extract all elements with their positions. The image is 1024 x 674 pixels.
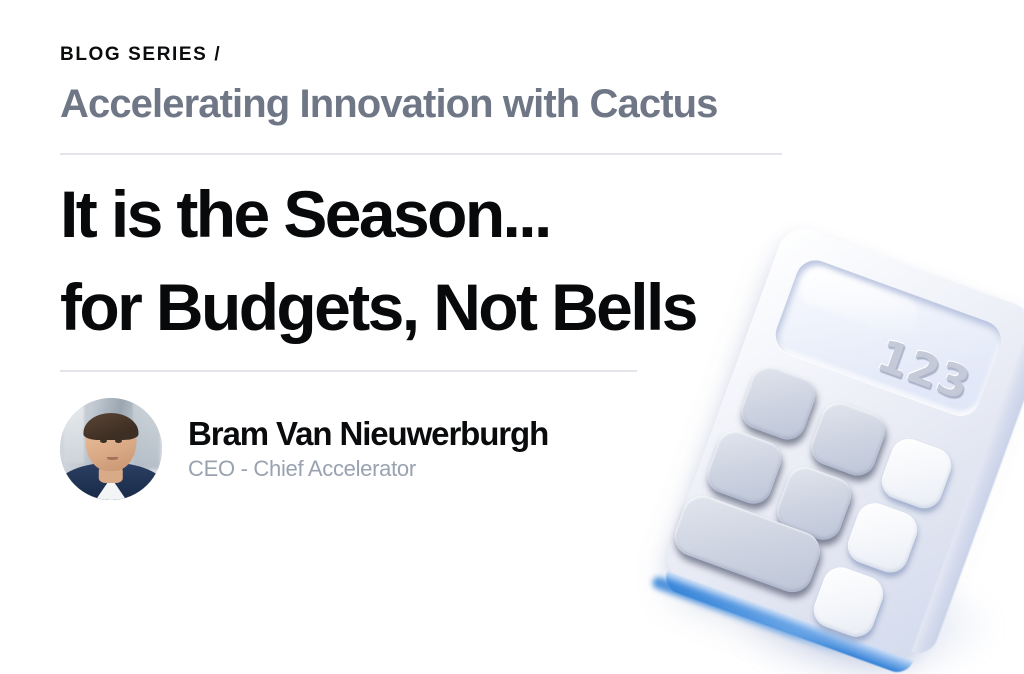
divider-bottom xyxy=(60,370,637,372)
calculator-key-r1c2 xyxy=(843,498,922,577)
calculator-right-edge xyxy=(911,326,1024,658)
calculator-ground-shadow xyxy=(730,566,1000,674)
blog-header-banner: BLOG SERIES / Accelerating Innovation wi… xyxy=(0,0,1024,674)
headline-line-1: It is the Season... xyxy=(60,181,800,247)
display-gloss xyxy=(796,263,922,340)
avatar xyxy=(60,398,162,500)
divider-top xyxy=(60,153,782,155)
author-text: Bram Van Nieuwerburgh CEO - Chief Accele… xyxy=(188,416,548,483)
blog-series-eyebrow: BLOG SERIES / xyxy=(60,44,800,67)
calculator-display: 123 xyxy=(770,255,1006,421)
blog-series-title: Accelerating Innovation with Cactus xyxy=(60,81,800,128)
calculator-bottom-edge xyxy=(661,571,913,674)
avatar-eye-right xyxy=(115,439,122,443)
banner-text-column: BLOG SERIES / Accelerating Innovation wi… xyxy=(60,44,800,500)
author-name: Bram Van Nieuwerburgh xyxy=(188,416,548,452)
calculator-key-r2-wide xyxy=(669,490,826,598)
display-value: 123 xyxy=(872,334,976,408)
calculator-rim-light xyxy=(651,575,852,658)
headline-line-2: for Budgets, Not Bells xyxy=(60,274,800,340)
article-headline: It is the Season... for Budgets, Not Bel… xyxy=(60,181,800,340)
calculator-key-r0c2 xyxy=(877,434,956,513)
calculator-key-r2c2 xyxy=(809,562,888,641)
avatar-eye-left xyxy=(100,439,107,443)
author-block: Bram Van Nieuwerburgh CEO - Chief Accele… xyxy=(60,398,800,500)
author-role: CEO - Chief Accelerator xyxy=(188,456,548,482)
calculator-key-r0c1 xyxy=(806,398,890,481)
